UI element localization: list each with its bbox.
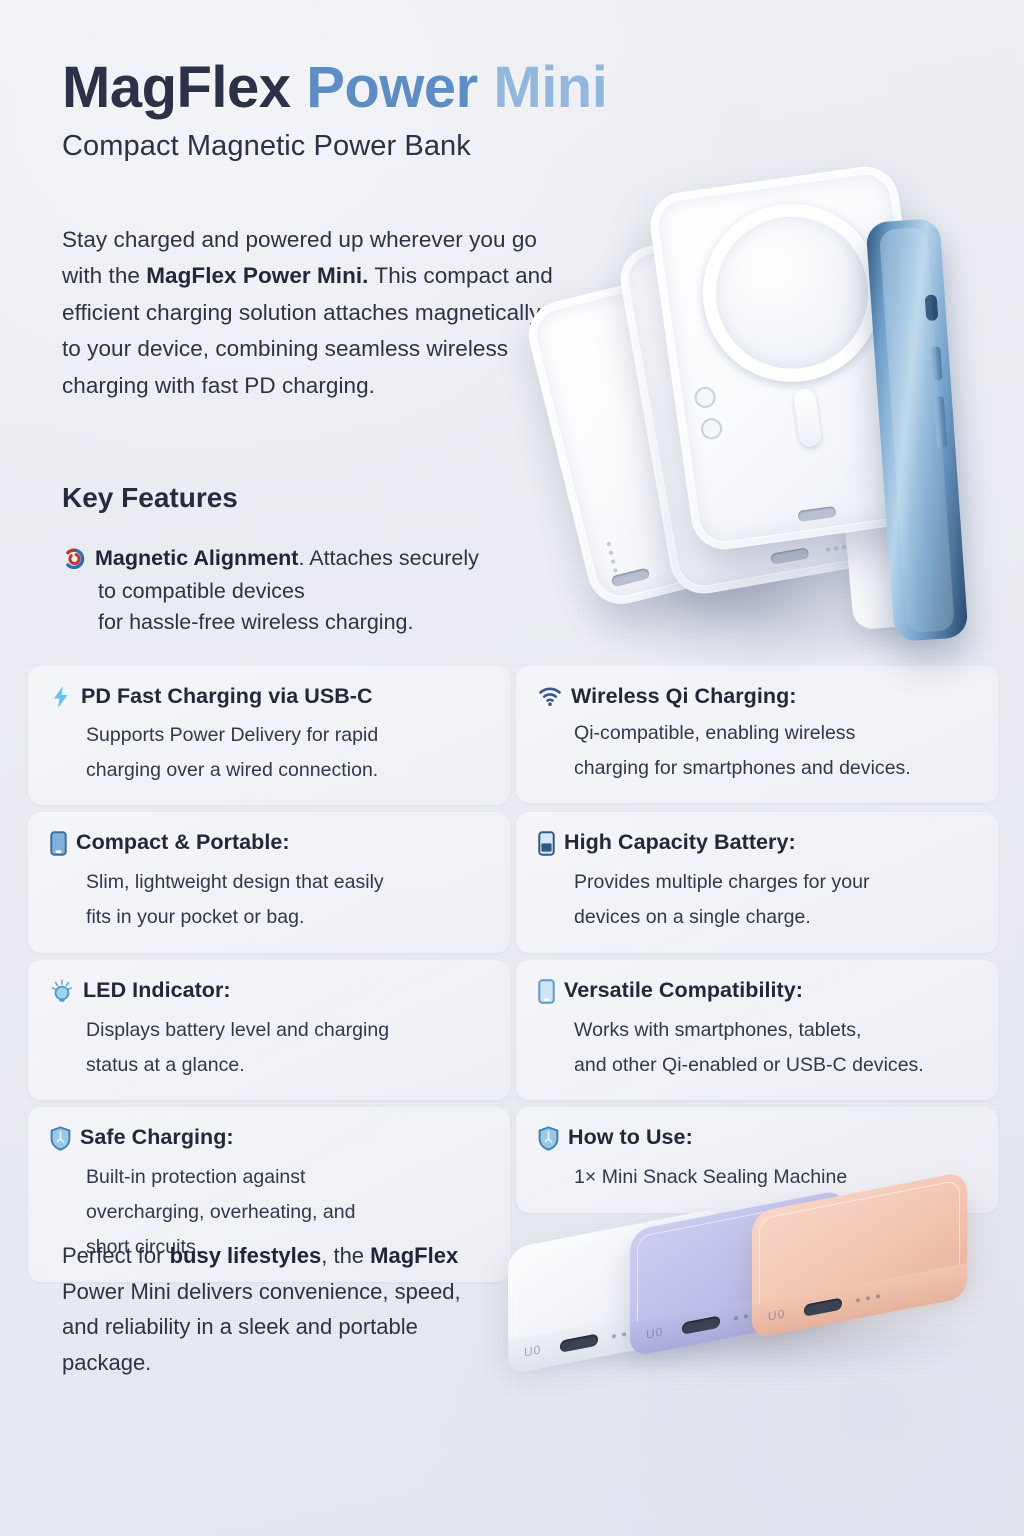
infographic-page: MagFlex Power Mini Compact Magnetic Powe… [0,0,1024,1536]
title-brand: MagFlex [62,55,291,120]
feature-card-title: How to Use: [568,1124,693,1151]
magnet-icon [62,547,86,576]
feature-card-line: overcharging, overheating, and [86,1195,488,1230]
feature-card-title: LED Indicator: [83,977,231,1004]
shield-icon [538,1126,559,1156]
feature-card-title: High Capacity Battery: [564,829,796,856]
feature-card-line: Displays battery level and charging [86,1013,488,1048]
closing-bold-lifestyles: busy lifestyles [170,1243,322,1268]
closing-bold-brand: MagFlex [370,1243,458,1268]
feature-card-line: Built-in protection against [86,1160,488,1195]
feature-card-wireless-qi-charging: Wireless Qi Charging: Qi-compatible, ena… [516,666,998,803]
magnetic-alignment-suffix: . Attaches securely [298,546,478,570]
button-indicator [693,386,717,410]
feature-card-body: Qi-compatible, enabling wireless chargin… [574,716,976,785]
magsafe-ring [691,192,892,393]
header: MagFlex Power Mini Compact Magnetic Powe… [62,58,762,163]
feature-card-compact-portable: Compact & Portable: Slim, lightweight de… [28,812,510,952]
closing-part3: Power Mini delivers convenience, speed, … [62,1279,461,1375]
phone-mute-switch [925,294,939,321]
feature-card-body: Displays battery level and charging stat… [86,1013,488,1082]
feature-card-led-indicator: LED Indicator: Displays battery level an… [28,960,510,1100]
usb-c-port [611,567,651,587]
lightning-bolt-icon [50,685,72,714]
magnetic-alignment-line3: for hassle-free wireless charging. [98,607,562,638]
key-features-heading: Key Features [62,482,238,514]
closing-part2: , the [321,1243,370,1268]
feature-card-line: Provides multiple charges for your [574,865,976,900]
led-bulb-icon [50,979,74,1009]
feature-card-high-capacity-battery: High Capacity Battery: Provides multiple… [516,812,998,952]
feature-card-body: Provides multiple charges for your devic… [574,865,976,934]
feature-card-title: Wireless Qi Charging: [571,683,796,710]
feature-card-line: Supports Power Delivery for rapid [86,718,488,753]
phone-volume-button [930,346,942,381]
feature-card-line: fits in your pocket or bag. [86,900,488,935]
smartphone-icon [538,979,555,1009]
feature-card-title: Versatile Compatibility: [564,977,803,1004]
intro-paragraph: Stay charged and powered up wherever you… [62,222,562,404]
feature-card-body: Works with smartphones, tablets, and oth… [574,1013,976,1082]
feature-card-body: Supports Power Delivery for rapid chargi… [86,718,488,787]
phone-volume-button [934,396,948,449]
led-indicator-dots [826,545,846,552]
feature-card-body: Slim, lightweight design that easily fit… [86,865,488,934]
wifi-icon [538,685,562,712]
button-indicator [700,417,724,441]
power-bank-pink: U0 [752,1171,967,1325]
magnetic-alignment-title: Magnetic Alignment [95,546,298,570]
magnetic-alignment-line2: to compatible devices [98,576,562,607]
feature-card-title: PD Fast Charging via USB-C [81,683,373,710]
title-mini: Mini [493,55,607,120]
feature-card-line: charging for smartphones and devices. [574,751,976,786]
feature-card-line: charging over a wired connection. [86,753,488,788]
magnetic-alignment-feature: Magnetic Alignment. Attaches securely to… [62,543,562,638]
feature-card-versatile-compatibility: Versatile Compatibility: Works with smar… [516,960,998,1100]
intro-product-name: MagFlex Power Mini. [146,263,368,288]
hero-product-image [548,160,1018,680]
page-title: MagFlex Power Mini [62,58,762,118]
usb-c-port [770,547,809,564]
usb-c-port [797,506,836,522]
magsafe-alignment-pill [793,388,823,448]
magnetic-alignment-text: Magnetic Alignment. Attaches securely [95,543,479,574]
feature-card-line: Slim, lightweight design that easily [86,865,488,900]
feature-card-line: devices on a single charge. [574,900,976,935]
battery-phone-icon [538,831,555,861]
feature-card-line: Qi-compatible, enabling wireless [574,716,976,751]
feature-card-line: and other Qi-enabled or USB-C devices. [574,1048,976,1083]
feature-card-line: status at a glance. [86,1048,488,1083]
feature-card-pd-fast-charging: PD Fast Charging via USB-C Supports Powe… [28,666,510,805]
feature-card-title: Compact & Portable: [76,829,290,856]
color-variants-image: U0 U0 U0 [500,1180,1005,1385]
smartphone-icon [50,831,67,861]
feature-card-title: Safe Charging: [80,1124,234,1151]
page-subtitle: Compact Magnetic Power Bank [62,130,762,163]
feature-card-line: Works with smartphones, tablets, [574,1013,976,1048]
closing-paragraph: Perfect for busy lifestyles, the MagFlex… [62,1238,492,1381]
led-indicator-dots [606,542,617,573]
closing-part1: Perfect for [62,1243,170,1268]
shield-icon [50,1126,71,1156]
title-power: Power [306,55,478,120]
